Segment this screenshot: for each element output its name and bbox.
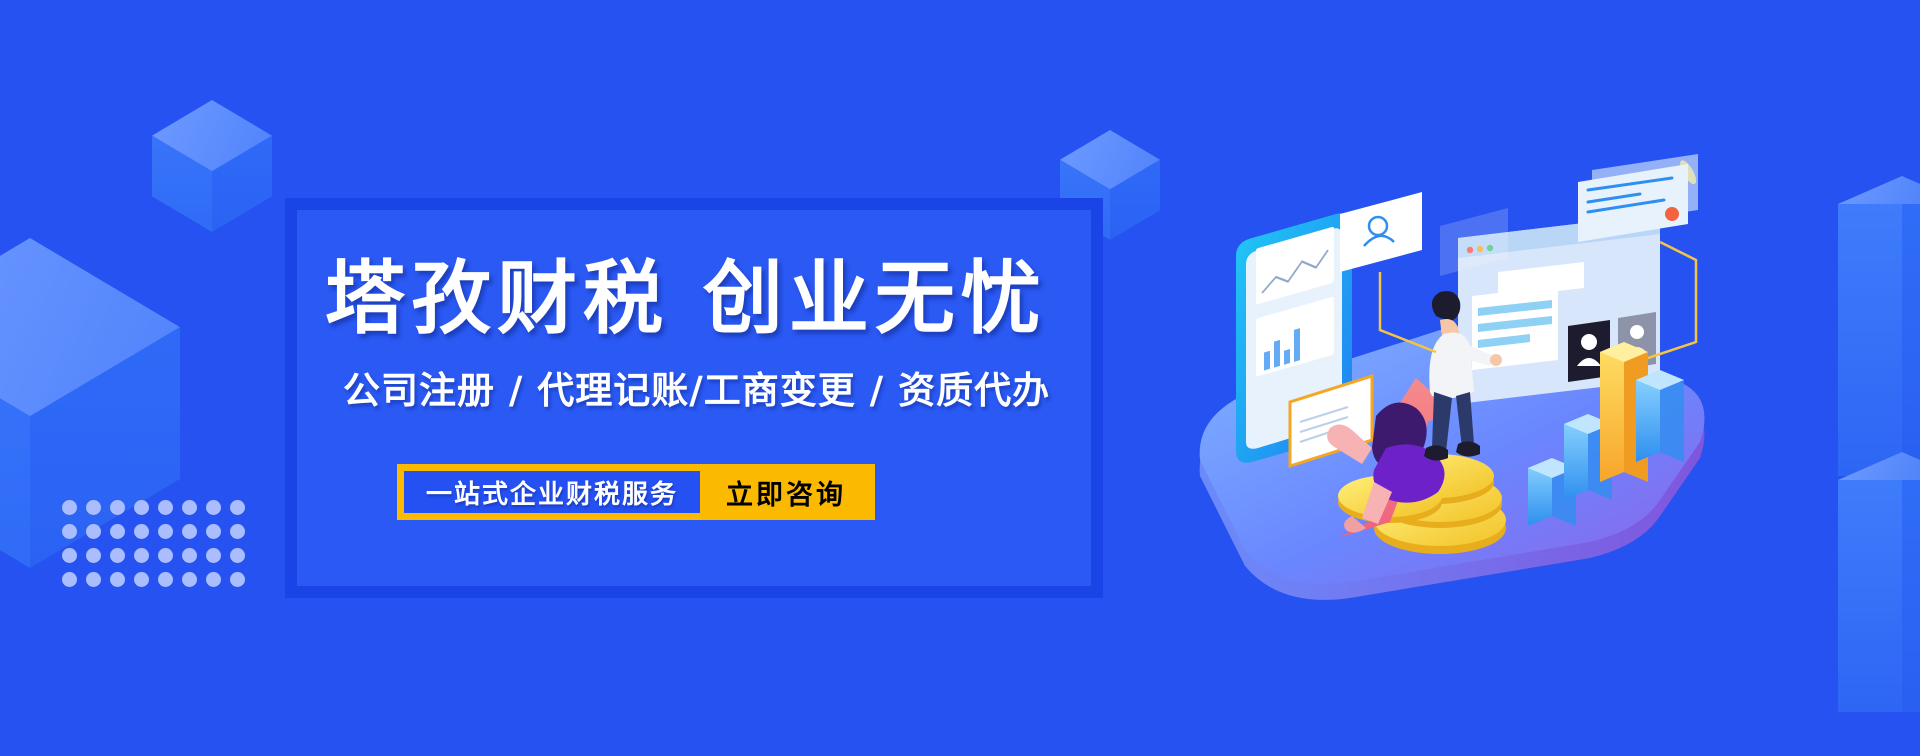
cube-decoration-top-left-icon (152, 100, 272, 232)
cta-bar: 一站式企业财税服务 立即咨询 (397, 464, 875, 520)
consult-now-button[interactable]: 立即咨询 (700, 467, 872, 517)
headline-panel-inner: 塔孜财税 创业无忧 公司注册 / 代理记账/工商变更 / 资质代办 一站式企业财… (297, 210, 1091, 586)
services-subtitle: 公司注册 / 代理记账/工商变更 / 资质代办 (343, 360, 1083, 414)
isometric-business-illustration (1140, 130, 1760, 600)
id-card (1578, 154, 1698, 242)
profile-card (1340, 192, 1422, 272)
promo-banner: 塔孜财税 创业无忧 公司注册 / 代理记账/工商变更 / 资质代办 一站式企业财… (0, 0, 1920, 756)
pillar-decoration-bottom-icon (1838, 452, 1920, 712)
cube-decoration-left-icon (0, 238, 180, 568)
page-title: 塔孜财税 创业无忧 (325, 234, 1085, 350)
headline-panel: 塔孜财税 创业无忧 公司注册 / 代理记账/工商变更 / 资质代办 一站式企业财… (285, 198, 1103, 598)
dot-grid-decoration (62, 500, 254, 596)
pillar-decoration-top-icon (1838, 176, 1920, 476)
cta-tagline: 一站式企业财税服务 (404, 471, 700, 513)
